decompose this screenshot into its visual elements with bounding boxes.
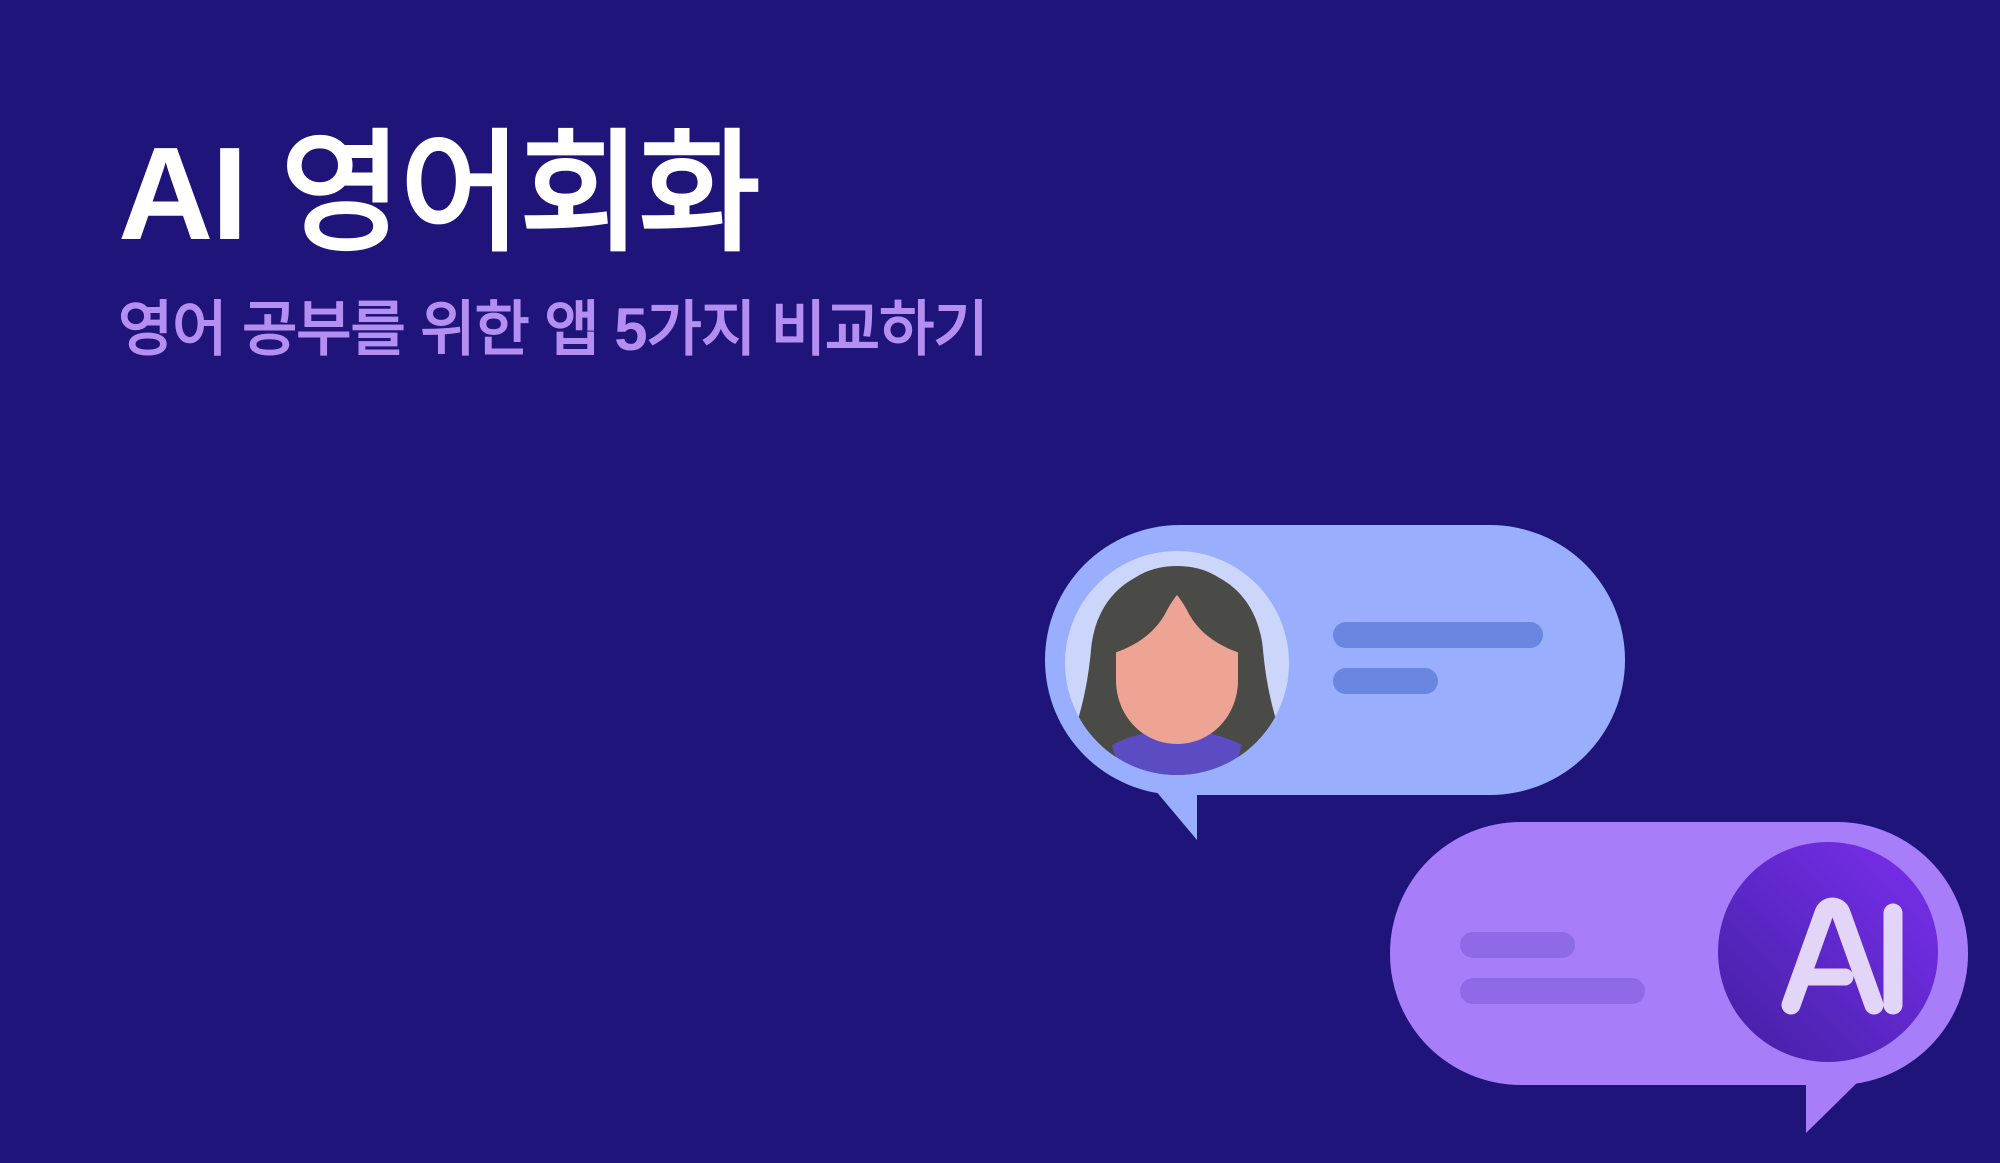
ai-badge-circle: [1718, 842, 1938, 1062]
user-bubble-tail-icon: [1155, 790, 1197, 840]
avatar-hair-front: [1105, 566, 1249, 664]
poster-canvas: AI 영어회화 영어 공부를 위한 앱 5가지 비교하기: [0, 0, 2000, 1163]
ai-chat-bubble: [1390, 822, 1968, 1133]
ai-message-line-1: [1460, 932, 1575, 958]
user-chat-bubble: [1045, 525, 1625, 872]
avatar-background-circle: [1065, 551, 1289, 775]
ai-badge: [1718, 842, 1938, 1062]
avatar-hair-right-strand: [1235, 630, 1287, 766]
user-bubble-body: [1045, 525, 1625, 795]
avatar-neck: [1152, 700, 1202, 760]
user-message-line-1: [1333, 622, 1543, 648]
avatar-hair-back: [1061, 568, 1293, 786]
ai-bubble-body: [1390, 822, 1968, 1085]
ai-message-line-2: [1460, 978, 1645, 1004]
page-title: AI 영어회화: [118, 128, 1118, 260]
avatar-face: [1116, 590, 1238, 744]
avatar: [1061, 551, 1293, 872]
ai-badge-letter-a: [1791, 907, 1874, 1005]
page-subtitle: 영어 공부를 위한 앱 5가지 비교하기: [118, 260, 1118, 360]
user-message-line-2: [1333, 668, 1438, 694]
hero-text-block: AI 영어회화 영어 공부를 위한 앱 5가지 비교하기: [118, 128, 1118, 360]
ai-bubble-tail-icon: [1806, 1078, 1862, 1133]
avatar-shirt: [1065, 730, 1289, 872]
avatar-hair-left-strand: [1067, 630, 1119, 766]
